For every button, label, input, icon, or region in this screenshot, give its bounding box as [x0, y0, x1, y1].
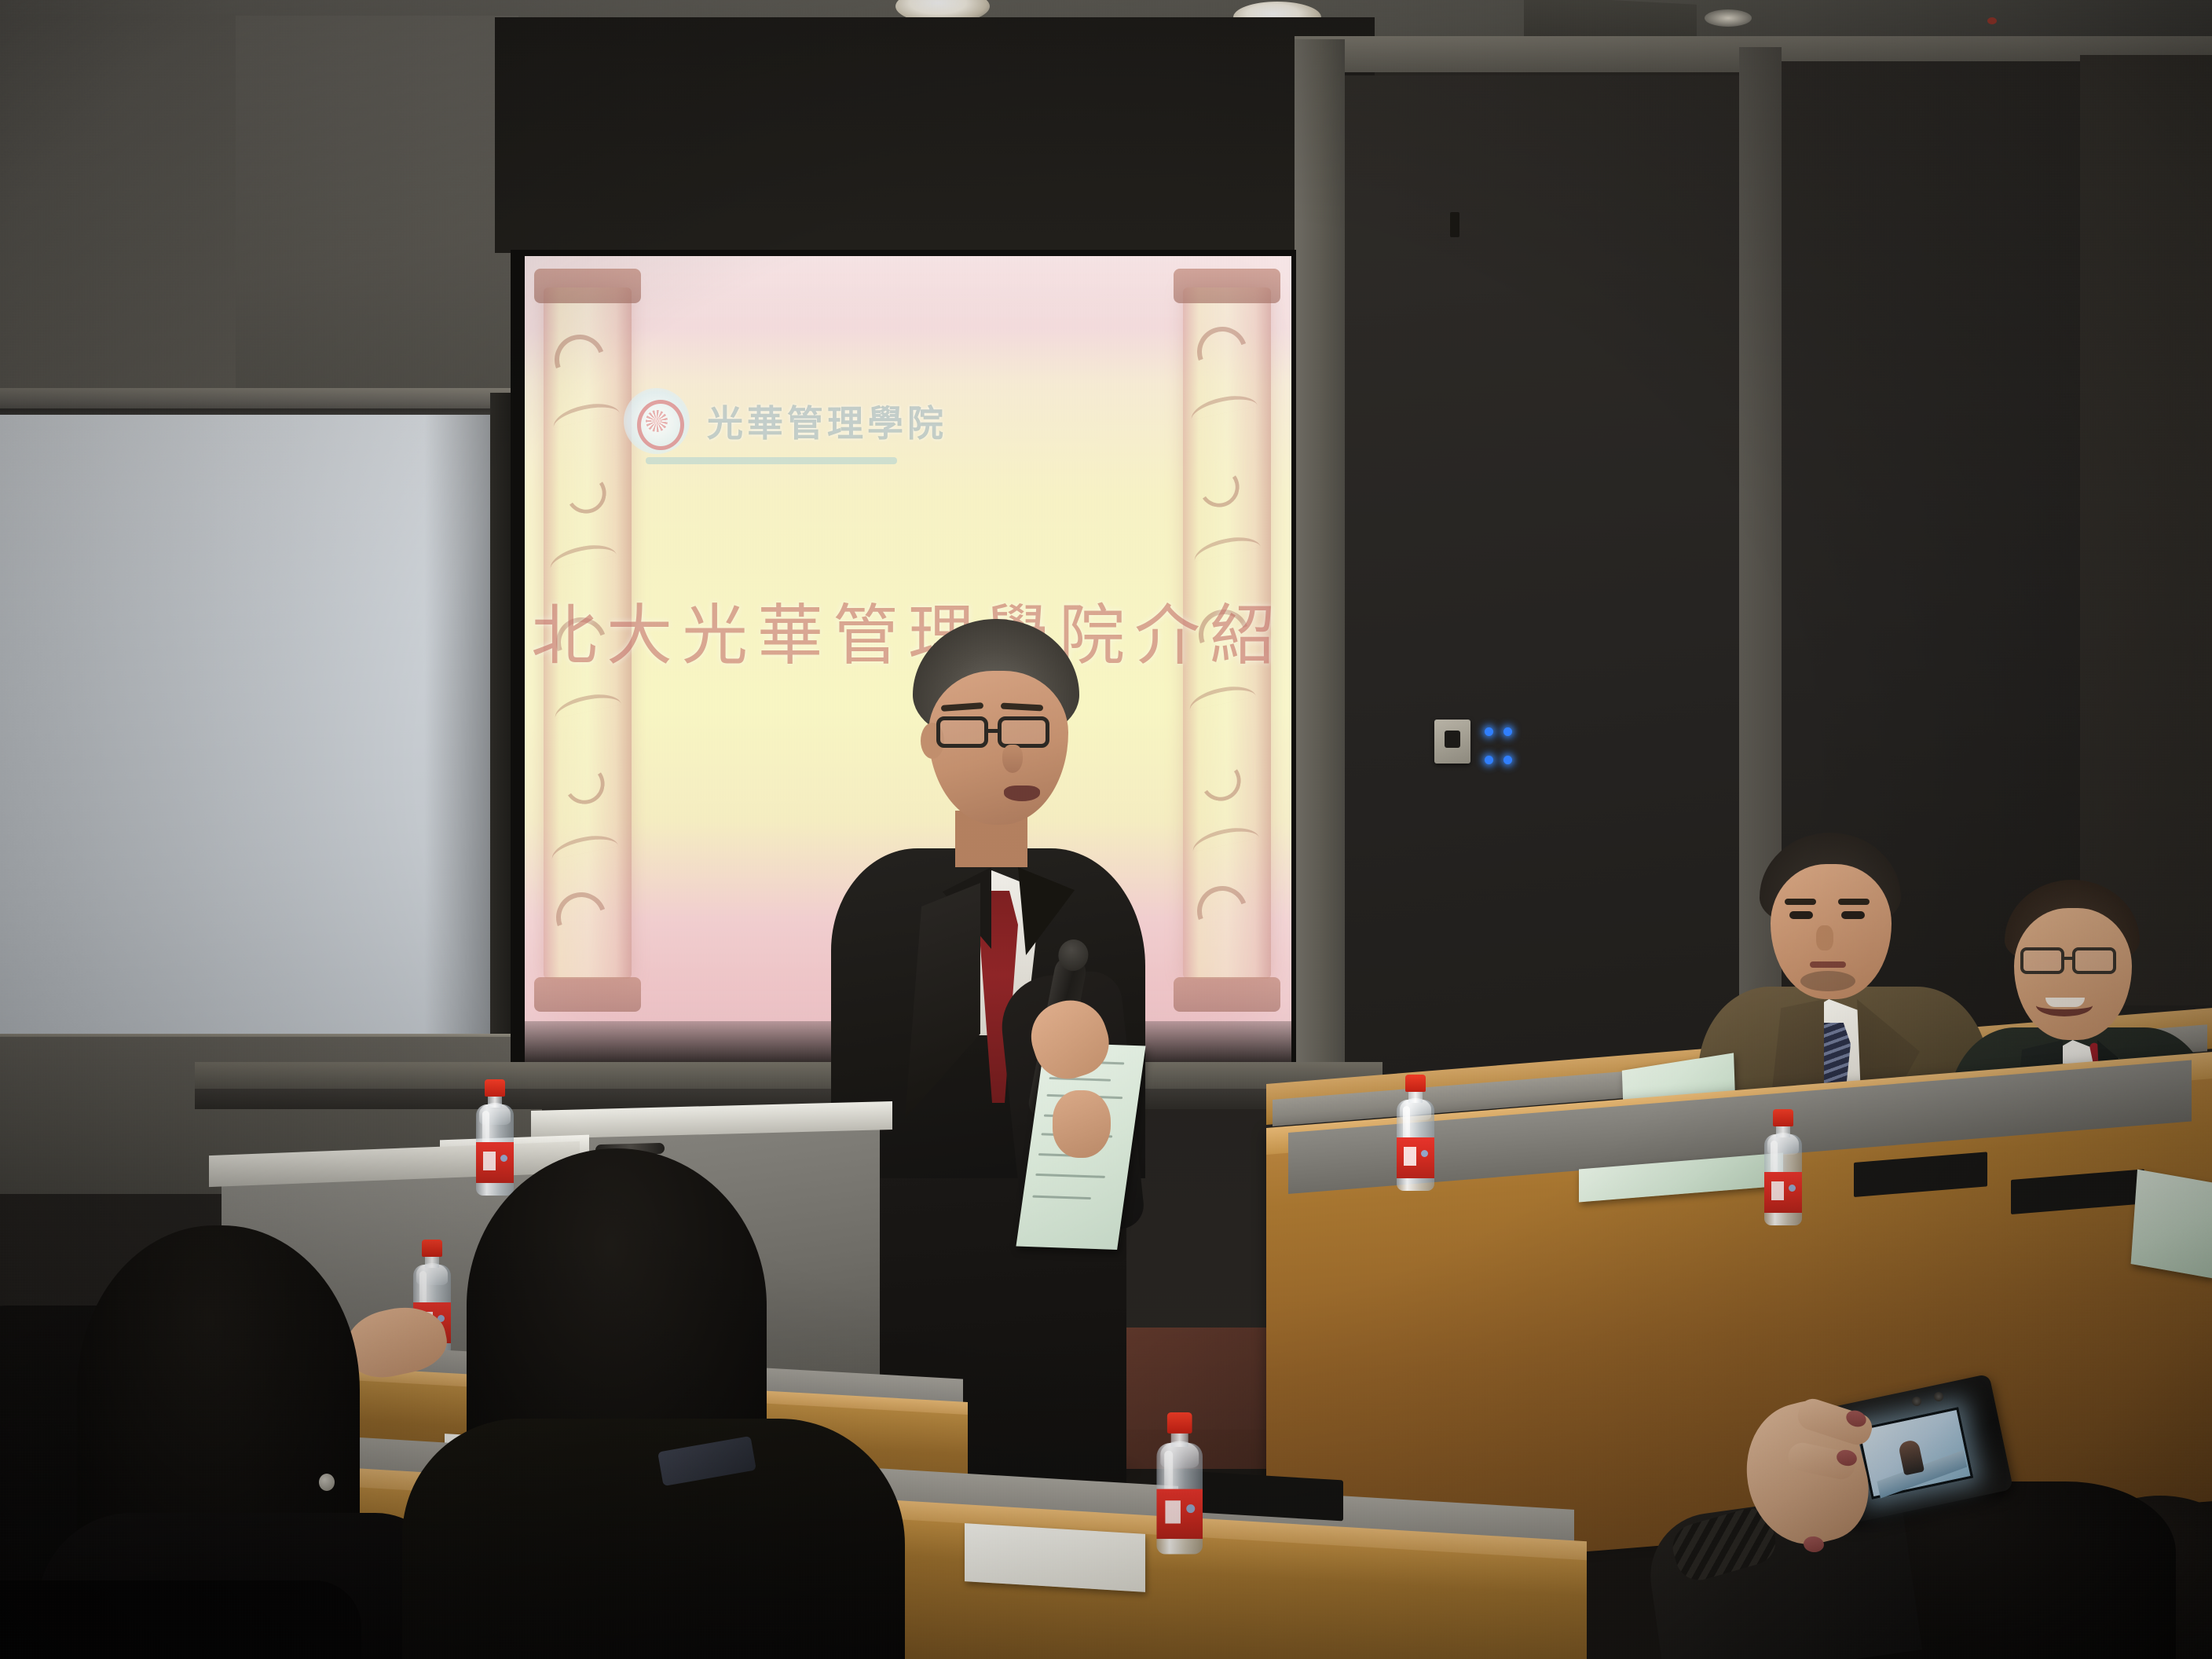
scroll-cap — [1174, 269, 1280, 303]
dark-wall-panel — [2080, 55, 2212, 1005]
recessed-downlight-icon — [1705, 9, 1752, 27]
slide-logo-text: 光華管理學院 — [707, 395, 947, 447]
water-bottle — [1395, 1075, 1436, 1192]
led-indicator-icon — [1485, 756, 1493, 764]
panelist-one-mouth — [1810, 961, 1846, 968]
bottle-label — [1397, 1137, 1434, 1178]
green-handout-paper — [2131, 1170, 2212, 1279]
slide-logo: 光華管理學院 — [624, 388, 947, 454]
water-bottle — [1155, 1412, 1204, 1556]
grey-pillar — [1295, 39, 1345, 1108]
panelist-one-eyebrow — [1838, 899, 1870, 905]
water-bottle — [474, 1079, 515, 1197]
panelist-one-eyebrow — [1785, 899, 1816, 905]
glasses-icon — [936, 716, 988, 748]
presenter-nose — [1002, 745, 1023, 773]
dark-wall-panel — [1340, 75, 1742, 1120]
panelist-one-eye — [1789, 911, 1813, 919]
bottle-cap — [485, 1079, 505, 1097]
panelist-one-chin — [1800, 971, 1855, 991]
scroll-cap — [1174, 977, 1280, 1012]
led-indicator-icon — [1485, 727, 1493, 736]
panelist-two-face — [2014, 908, 2132, 1040]
presenter-mouth — [1004, 786, 1040, 801]
av-wall-plate[interactable] — [1434, 720, 1470, 764]
bottle-label — [1156, 1489, 1203, 1539]
screen-header-band — [495, 17, 1375, 253]
slide-logo-rule — [646, 457, 897, 464]
lecture-hall-photo: 光華管理學院 北大光華管理學院介紹 — [0, 0, 2212, 1659]
scroll-cap — [534, 977, 641, 1012]
wall-hook-icon — [1450, 212, 1459, 237]
red-indicator-dot-icon — [1987, 17, 1997, 24]
bottle-label — [476, 1142, 514, 1183]
university-seal-icon — [624, 388, 690, 454]
presenter-face — [928, 671, 1068, 825]
led-indicator-icon — [1503, 756, 1512, 764]
bottle-label — [1764, 1172, 1802, 1213]
camera-preview-subject — [1898, 1439, 1925, 1475]
grey-wall-panel — [0, 14, 236, 423]
glasses-icon — [2020, 947, 2064, 974]
audience-foreground-edge — [0, 1580, 361, 1659]
glasses-icon — [998, 716, 1049, 748]
panelist-two-smile — [2036, 994, 2093, 1016]
panelist-one-nose — [1816, 925, 1833, 950]
glasses-bridge — [2064, 957, 2074, 960]
scroll-cap — [534, 269, 641, 303]
bottle-cap — [1167, 1412, 1192, 1434]
glasses-icon — [2072, 947, 2116, 974]
bottle-cap — [1405, 1075, 1426, 1092]
panelist-one-eye — [1841, 911, 1865, 919]
glasses-bridge — [988, 729, 999, 733]
bottle-cap — [1773, 1109, 1793, 1126]
white-paper — [965, 1523, 1145, 1592]
presenter-hand — [1053, 1090, 1111, 1158]
bottle-cap — [422, 1240, 442, 1257]
water-bottle — [1763, 1109, 1804, 1227]
earring-icon — [319, 1474, 335, 1491]
led-indicator-icon — [1503, 727, 1512, 736]
audience-member-center-body — [402, 1419, 905, 1659]
